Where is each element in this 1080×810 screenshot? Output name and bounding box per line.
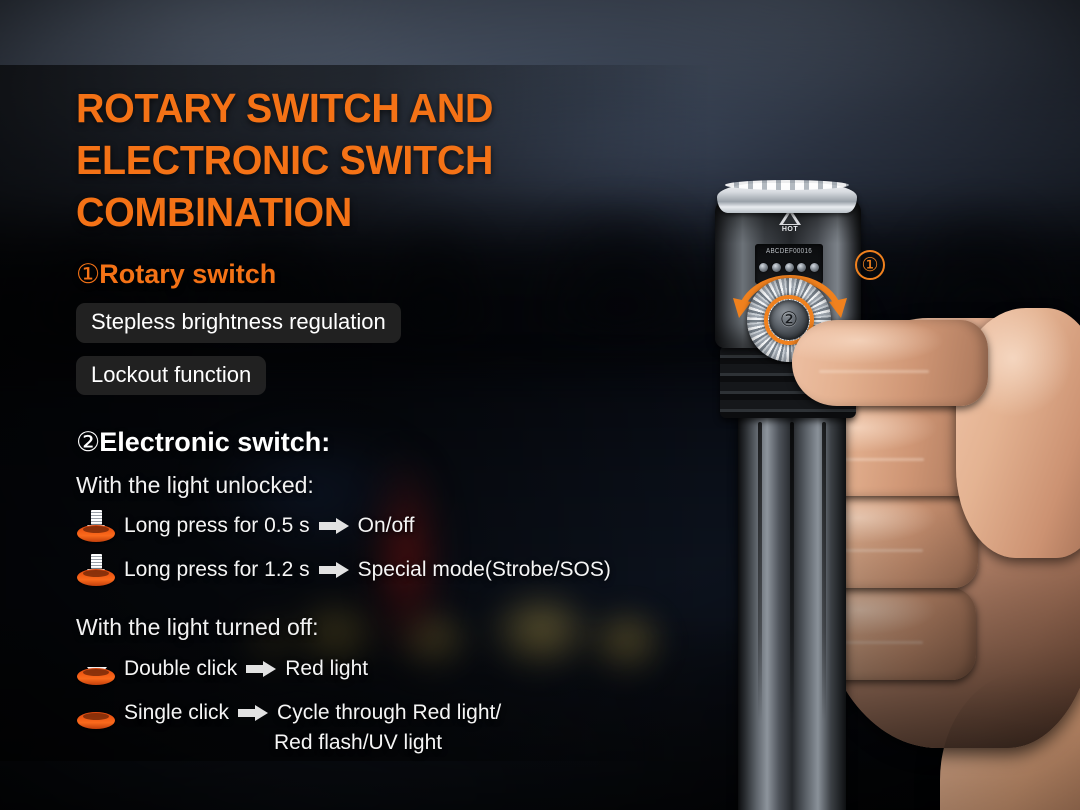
promo-graphic: HOT ABCDEF00016 ① [0,0,1080,810]
section-title-electronic: Electronic switch: [99,427,330,457]
single-click-icon [76,695,118,729]
action-label: Long press for 0.5 s [124,514,310,537]
result-label: On/off [358,514,415,537]
list-item: Single clickCycle through Red light/ Red… [76,695,716,758]
list-item-text: Long press for 0.5 sOn/off [124,508,414,541]
finger-index [792,320,988,406]
subhead-turned-off: With the light turned off: [76,614,716,640]
turned-off-row-list: Double clickRed light Single clickCycle … [76,651,716,758]
result-label: Cycle through Red light/ [277,701,501,724]
long-press-icon [76,508,118,542]
section-heading-rotary: ①Rotary switch [76,260,716,290]
right-arrow-icon [319,518,349,533]
right-arrow-icon [238,705,268,720]
section-marker-2: ② [76,427,99,457]
list-item: Long press for 1.2 sSpecial mode(Strobe/… [76,552,716,586]
text-content: ROTARY SWITCH AND ELECTRONIC SWITCH COMB… [76,0,716,757]
long-press-icon [76,552,118,586]
section-marker-1: ① [76,259,99,289]
action-label: Single click [124,701,229,724]
list-item-text: Double clickRed light [124,651,368,684]
list-item-text: Long press for 1.2 sSpecial mode(Strobe/… [124,552,611,585]
orange-button-icon [77,525,115,542]
list-item-text: Single clickCycle through Red light/ Red… [124,695,501,758]
page-title: ROTARY SWITCH AND ELECTRONIC SWITCH COMB… [76,0,690,238]
list-item: Long press for 0.5 sOn/off [76,508,716,542]
result-label: Red light [285,657,368,680]
result-label-line2: Red flash/UV light [124,731,442,754]
action-label: Double click [124,657,237,680]
rotary-pill-list: Stepless brightness regulation Lockout f… [76,290,716,395]
orange-button-icon [77,569,115,586]
action-label: Long press for 1.2 s [124,558,310,581]
pill-stepless-brightness: Stepless brightness regulation [76,303,401,343]
section-heading-electronic: ②Electronic switch: [76,428,716,458]
orange-button-icon [77,668,115,685]
list-item: Double clickRed light [76,651,716,685]
pill-lockout-function: Lockout function [76,356,266,396]
right-arrow-icon [246,661,276,676]
unlocked-row-list: Long press for 0.5 sOn/off Long press fo… [76,508,716,586]
right-arrow-icon [319,562,349,577]
orange-button-icon [77,712,115,729]
section-title-rotary: Rotary switch [99,259,276,289]
result-label: Special mode(Strobe/SOS) [358,558,611,581]
double-click-icon [76,651,118,685]
result-label-continued: Red flash/UV light [274,731,442,754]
subhead-unlocked: With the light unlocked: [76,472,716,498]
